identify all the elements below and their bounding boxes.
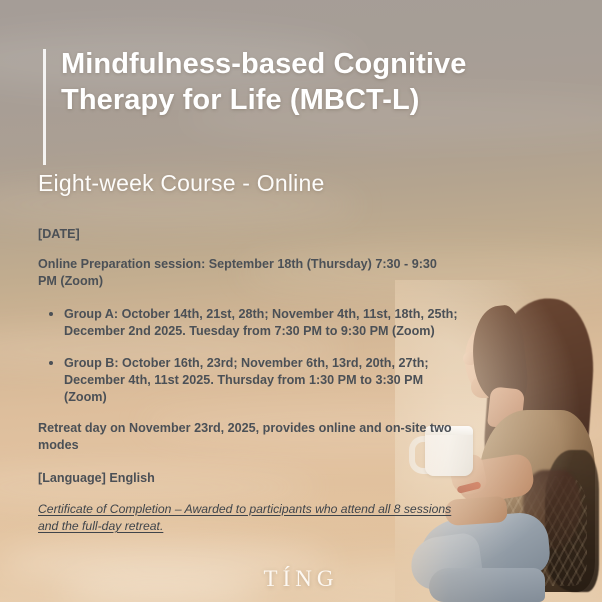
details-block: [DATE] Online Preparation session: Septe… [38,226,458,535]
brand-logo: TÍNG [0,566,602,592]
poster-canvas: Mindfulness-based Cognitive Therapy for … [0,0,602,602]
nose-shape [463,352,475,365]
hair-front-shape [468,304,530,405]
group-schedule-list: Group A: October 14th, 21st, 28th; Novem… [38,306,458,406]
face-shape [463,322,516,397]
title-block: Mindfulness-based Cognitive Therapy for … [43,46,473,118]
page-title: Mindfulness-based Cognitive Therapy for … [43,46,473,118]
accent-rule [43,49,46,165]
course-subtitle: Eight-week Course - Online [38,170,324,197]
certificate-note: Certificate of Completion – Awarded to p… [38,501,458,535]
bullet-icon [49,312,53,316]
neck-shape [487,386,525,429]
list-item: Group B: October 16th, 23rd; November 6t… [38,355,458,406]
hair-tips-shape [523,470,581,548]
prep-session-text: Online Preparation session: September 18… [38,256,458,290]
chin-shape [471,376,495,398]
list-item: Group A: October 14th, 21st, 28th; Novem… [38,306,458,340]
group-a-text: Group A: October 14th, 21st, 28th; Novem… [64,307,458,338]
group-b-text: Group B: October 16th, 23rd; November 6t… [64,356,429,404]
retreat-text: Retreat day on November 23rd, 2025, prov… [38,420,458,454]
arm-shape [454,452,536,505]
date-heading: [DATE] [38,226,458,243]
hair-shape [480,295,598,510]
language-text: [Language] English [38,470,458,487]
bracelet-shape [457,481,482,494]
shawl-shape [479,410,595,592]
bullet-icon [49,361,53,365]
